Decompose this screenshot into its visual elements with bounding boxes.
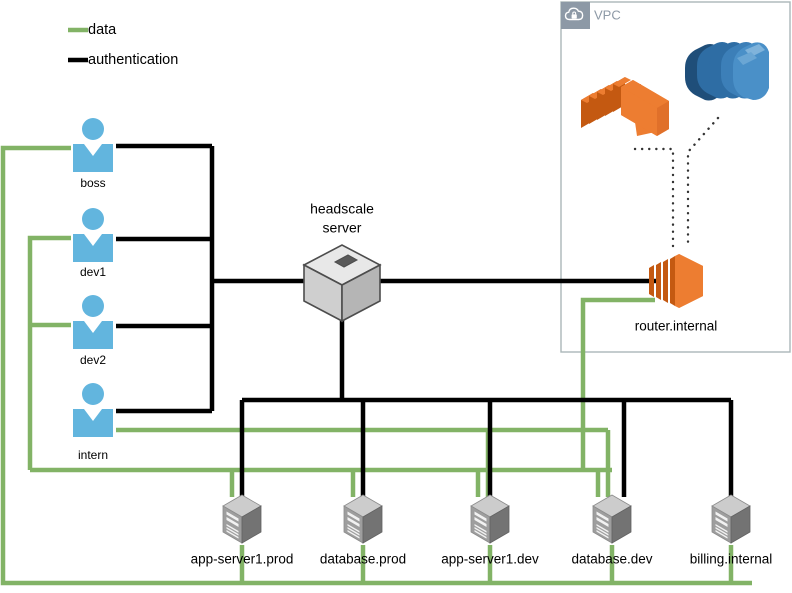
user-node-dev2[interactable]: dev2 (73, 295, 113, 367)
server-label-app-server1-dev: app-server1.dev (441, 552, 539, 567)
server-icon (593, 495, 631, 543)
server-node-app-server1-prod[interactable]: app-server1.prod (191, 495, 294, 567)
aws-database-stack-icon (685, 42, 769, 101)
network-diagram: VPC (0, 0, 792, 593)
server-icon (344, 495, 382, 543)
vpc-label: VPC (594, 7, 621, 22)
legend-item-authentication: authentication (68, 52, 178, 68)
user-node-boss[interactable]: boss (73, 118, 113, 190)
user-icon (73, 295, 113, 349)
cube-icon (304, 245, 380, 321)
legend-label-authentication: authentication (88, 52, 178, 68)
legend-item-data: data (68, 22, 117, 38)
server-nodes: app-server1.prod database.prod app-serve… (191, 495, 773, 567)
data-link-dev1 (30, 238, 71, 470)
user-nodes: boss dev1 dev2 intern (73, 118, 113, 462)
server-icon (223, 495, 261, 543)
server-icon (471, 495, 509, 543)
server-label-database-dev: database.dev (571, 552, 652, 567)
headscale-server-node[interactable]: headscale server (304, 201, 380, 321)
headscale-label-line1: headscale (310, 201, 374, 217)
user-label-intern: intern (78, 448, 108, 462)
user-icon (73, 383, 113, 437)
server-icon (712, 495, 750, 543)
user-icon (73, 118, 113, 172)
server-node-billing-internal[interactable]: billing.internal (690, 495, 773, 567)
diagram-canvas: VPC (0, 0, 792, 593)
server-label-app-server1-prod: app-server1.prod (191, 552, 294, 567)
user-label-dev1: dev1 (80, 265, 106, 279)
legend: data authentication (68, 22, 178, 68)
server-label-billing-internal: billing.internal (690, 552, 773, 567)
server-node-database-dev[interactable]: database.dev (571, 495, 652, 567)
user-icon (73, 208, 113, 262)
vpc-database-node[interactable] (685, 42, 769, 101)
server-label-database-prod: database.prod (320, 552, 406, 567)
user-label-dev2: dev2 (80, 353, 106, 367)
user-node-intern[interactable]: intern (73, 383, 113, 462)
server-node-app-server1-dev[interactable]: app-server1.dev (441, 495, 539, 567)
user-node-dev1[interactable]: dev1 (73, 208, 113, 279)
user-label-boss: boss (80, 176, 105, 190)
router-label: router.internal (635, 319, 718, 334)
legend-label-data: data (88, 22, 117, 38)
headscale-label-line2: server (323, 220, 362, 236)
server-node-database-prod[interactable]: database.prod (320, 495, 406, 567)
